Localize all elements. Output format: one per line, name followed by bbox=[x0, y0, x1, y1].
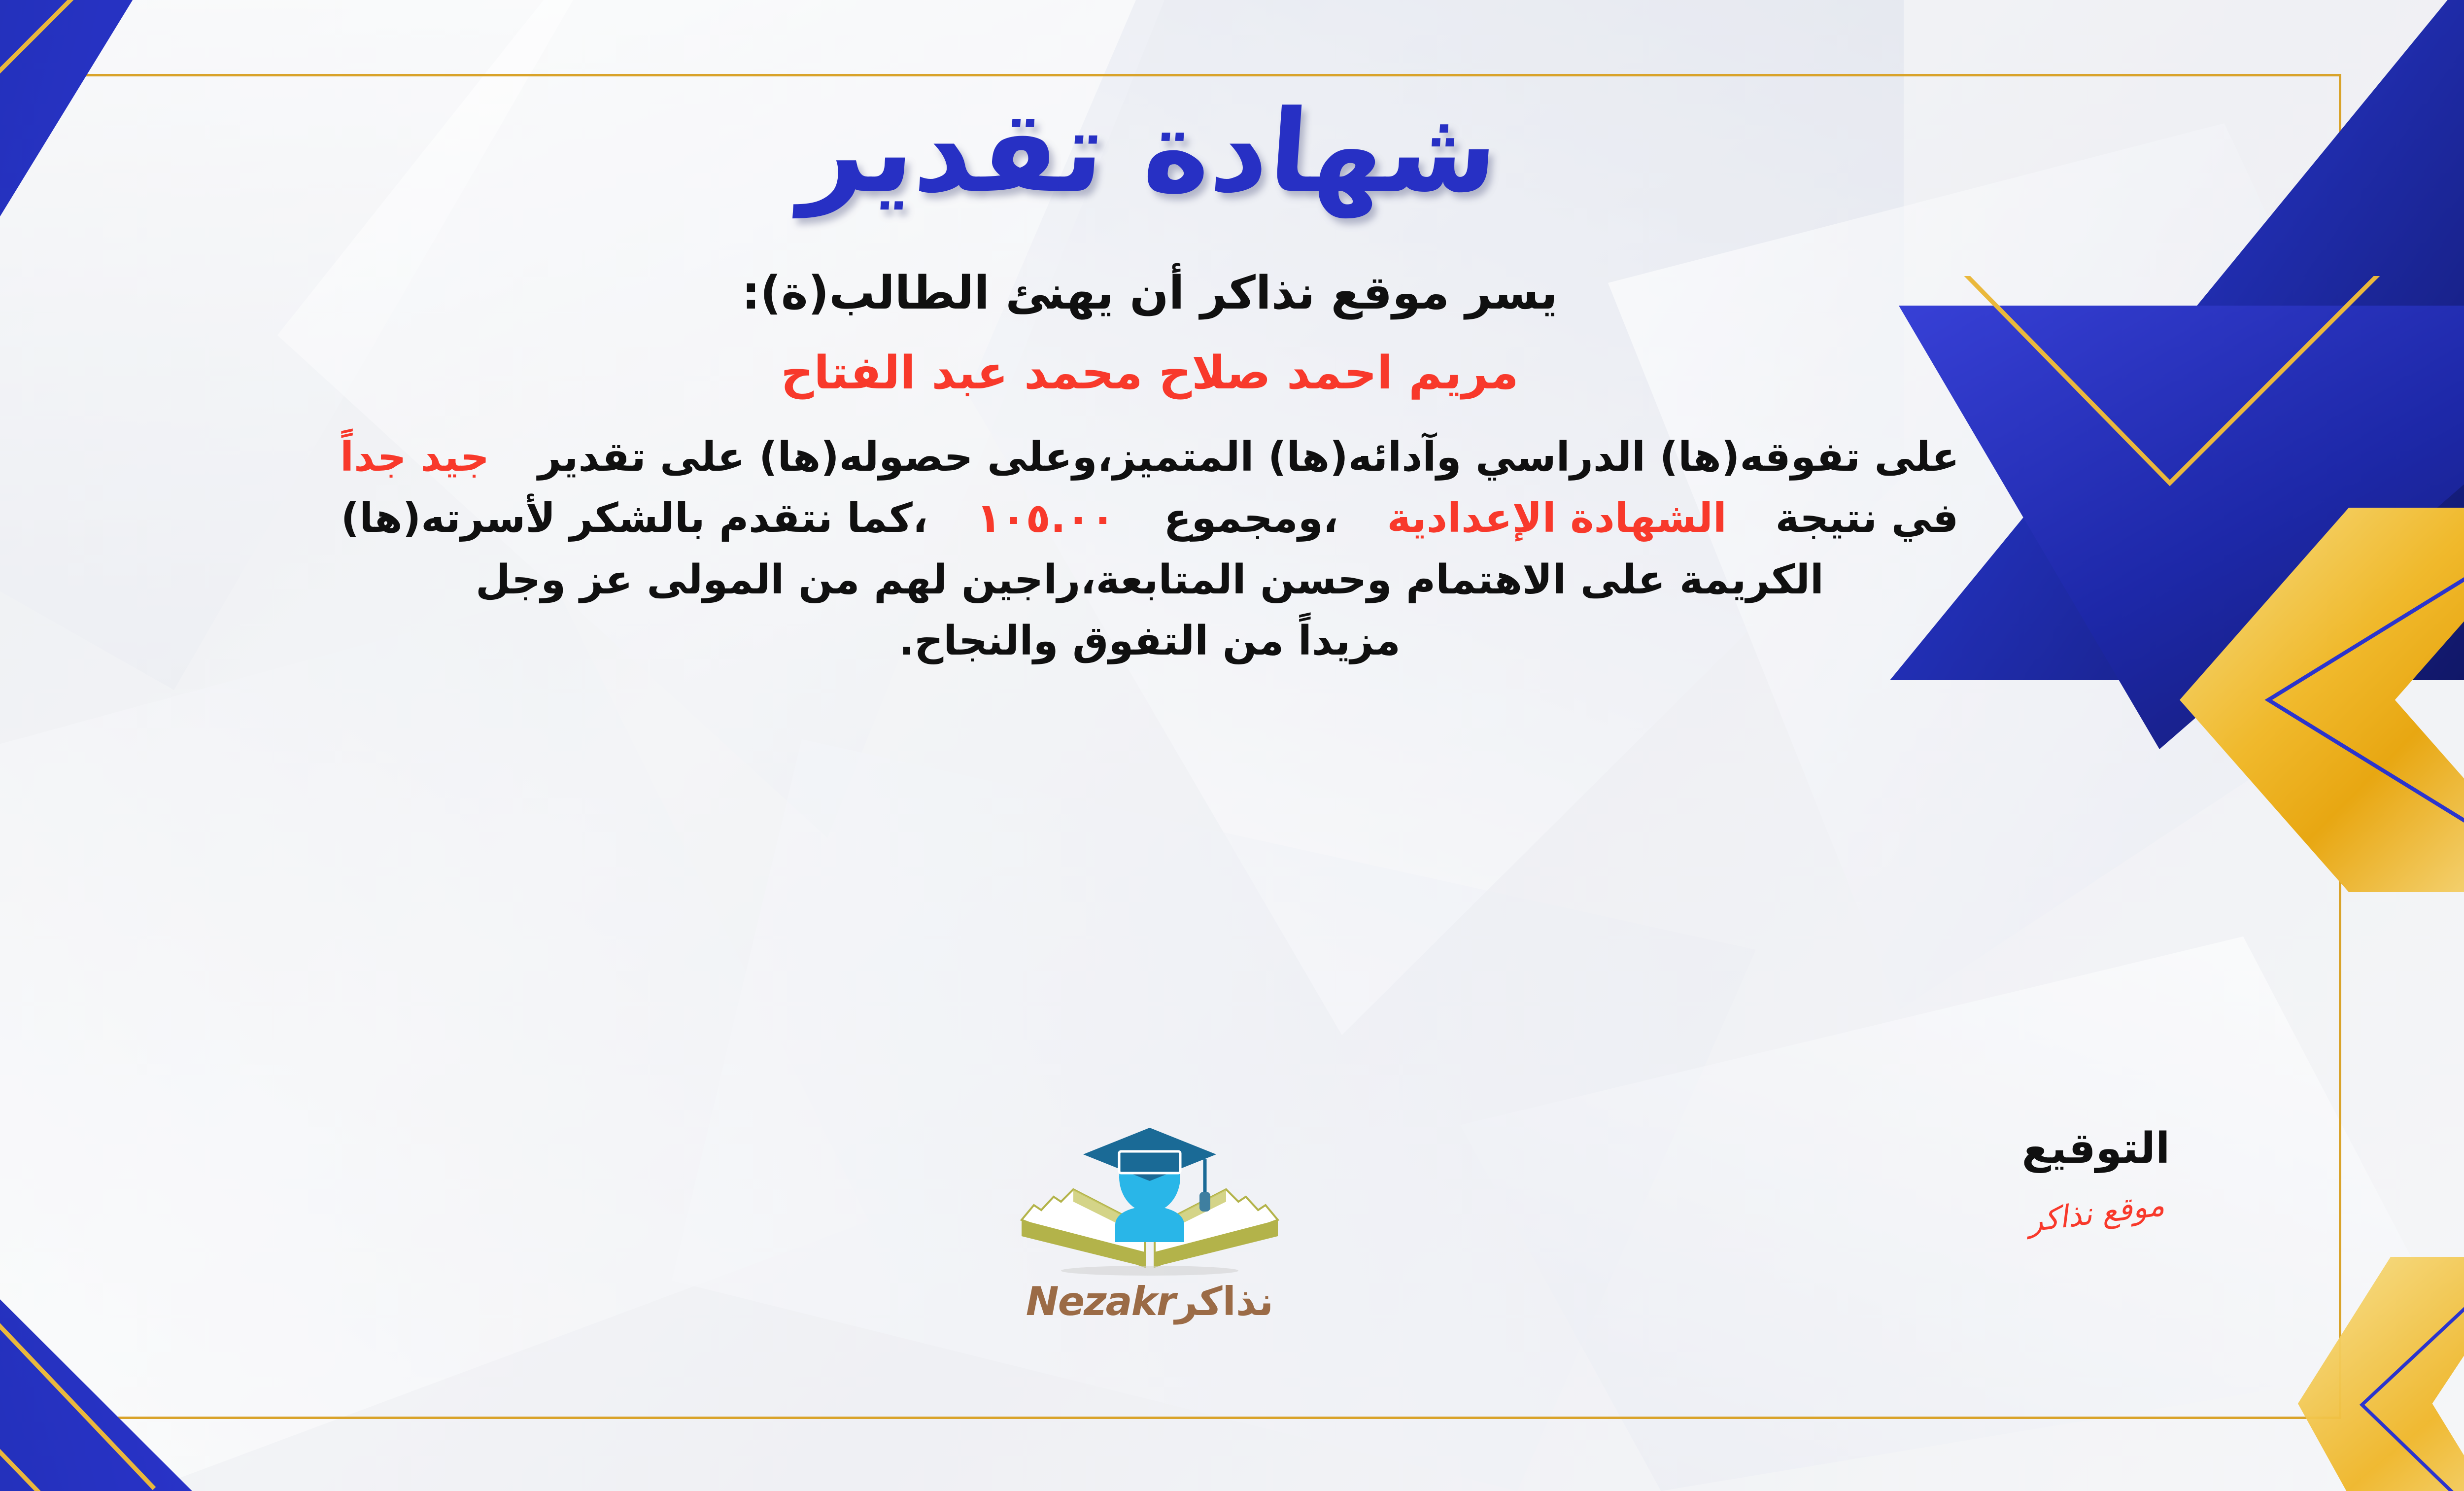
gold-frame-top bbox=[0, 74, 2341, 76]
body-line-6: مزيداً من التفوق والنجاح. bbox=[0, 611, 2305, 672]
body-line-4-suffix: ،كما نتقدم بالشكر لأسرته(ها) bbox=[341, 495, 928, 542]
body-line-3: على تفوقه(ها) الدراسي وآدائه(ها) المتميز… bbox=[0, 427, 2305, 488]
certificate-body: على تفوقه(ها) الدراسي وآدائه(ها) المتميز… bbox=[0, 427, 2305, 673]
total-score: ١٠٥.٠٠ bbox=[942, 495, 1150, 542]
signature-label: التوقيع bbox=[1923, 1124, 2268, 1173]
page-title: شهادة تقدير bbox=[797, 93, 1502, 212]
body-line-4-prefix: في نتيجة bbox=[1776, 495, 1959, 542]
certificate-footer: التوقيع موقع نذاكر bbox=[0, 1124, 2318, 1420]
logo-wordmark: Nezakrنذاكر bbox=[948, 1279, 1352, 1324]
signature-block: التوقيع موقع نذاكر bbox=[1923, 1124, 2268, 1231]
logo-wordmark-latin: Nezakr bbox=[1026, 1279, 1175, 1324]
body-line-3-text: على تفوقه(ها) الدراسي وآدائه(ها) المتميز… bbox=[538, 434, 1959, 481]
logo-wordmark-arabic: نذاكر bbox=[1175, 1279, 1273, 1324]
body-line-4: في نتيجة الشهادة الإعدادية ،ومجموع ١٠٥.٠… bbox=[0, 488, 2305, 550]
signature-mark: موقع نذاكر bbox=[2025, 1186, 2166, 1239]
certificate-page: شهادة تقدير يسر موقع نذاكر أن يهنئ الطال… bbox=[0, 0, 2464, 1491]
lead-line: يسر موقع نذاكر أن يهنئ الطالب(ة): bbox=[742, 266, 1558, 319]
brand-logo: Nezakrنذاكر bbox=[948, 1119, 1352, 1324]
gold-chevron-bottom-right-inner-line bbox=[2298, 1252, 2464, 1491]
graduation-book-icon bbox=[1012, 1119, 1288, 1282]
body-line-5: الكريمة على الاهتمام وحسن المتابعة،راجين… bbox=[0, 550, 2305, 611]
grade-value: جيد جداً bbox=[340, 434, 524, 481]
body-line-4-mid: ،ومجموع bbox=[1164, 495, 1338, 542]
exam-name: الشهادة الإعدادية bbox=[1352, 495, 1761, 542]
student-name: مريم احمد صلاح محمد عبد الفتاح bbox=[781, 346, 1518, 399]
